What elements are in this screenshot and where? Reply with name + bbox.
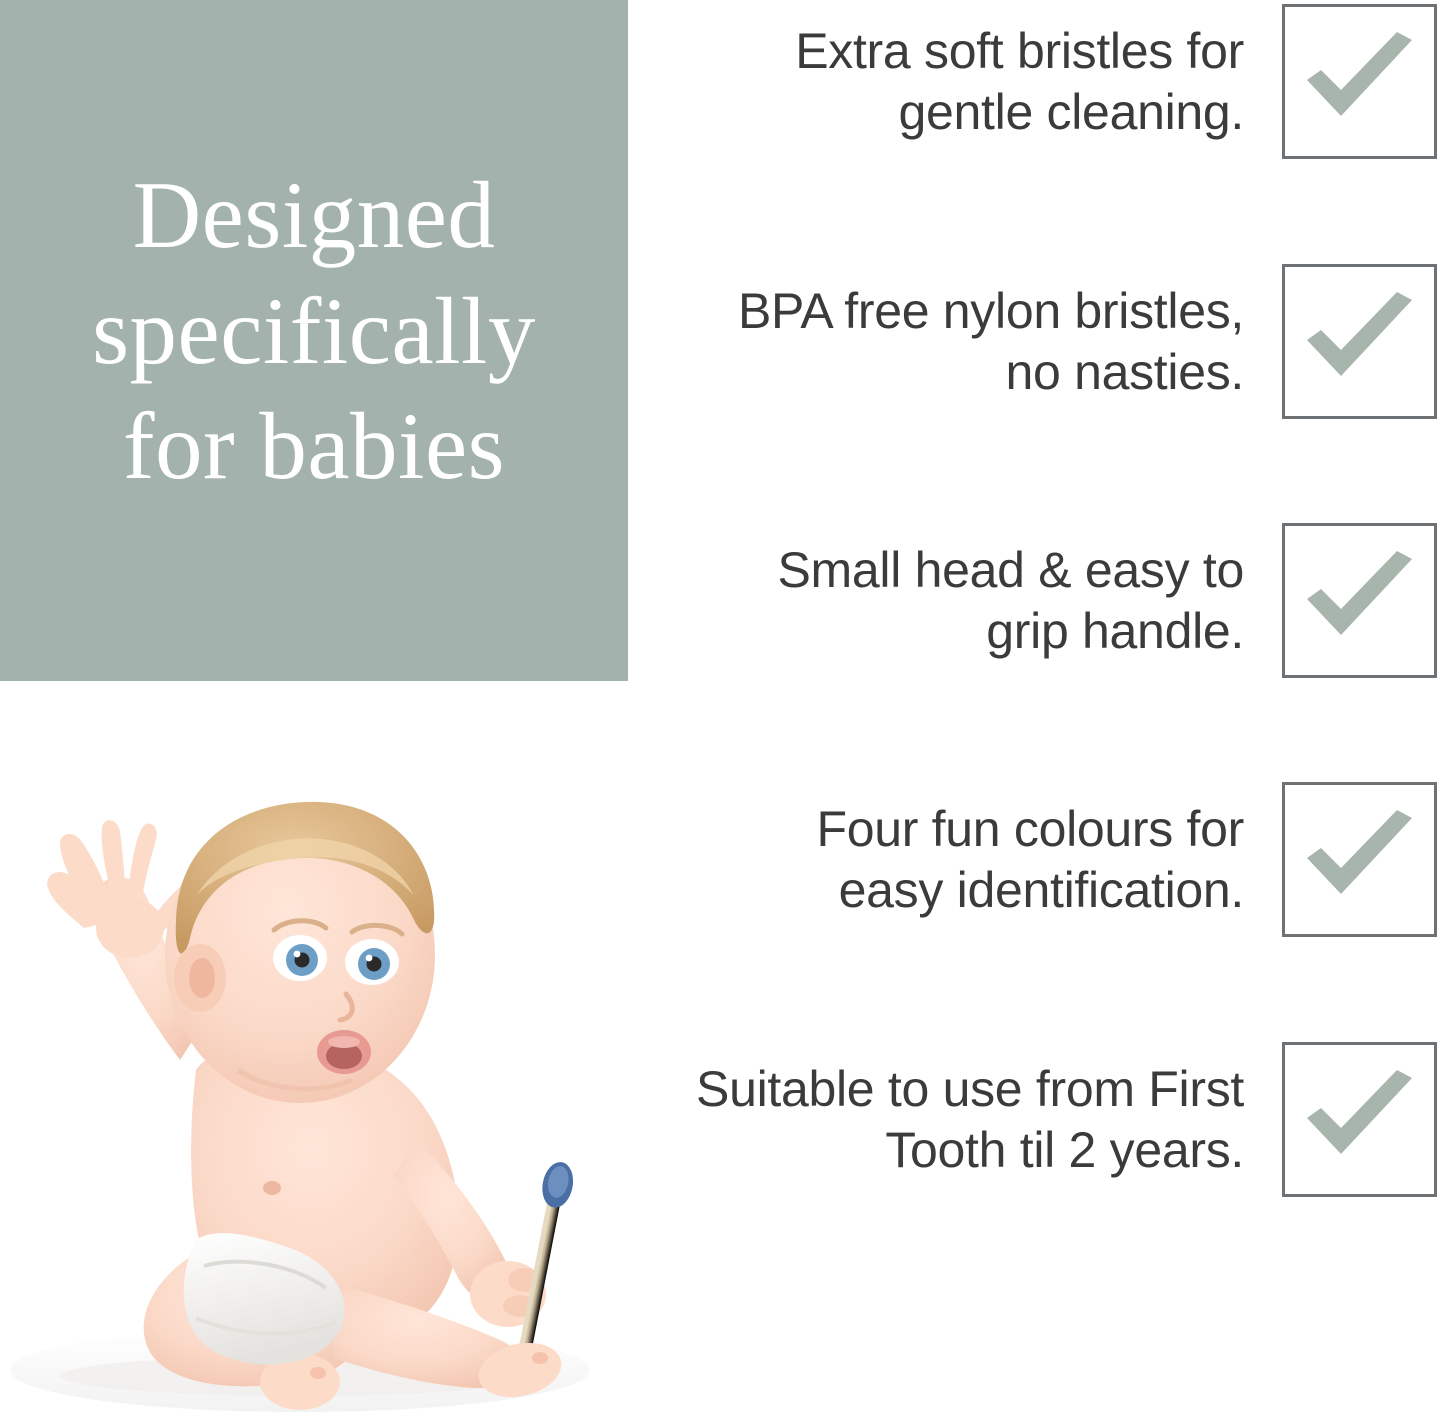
checkbox-2[interactable] — [1282, 264, 1437, 419]
left-column: Designed specifically for babies — [0, 0, 640, 1416]
checkbox-3[interactable] — [1282, 523, 1437, 678]
checkbox-4[interactable] — [1282, 782, 1437, 937]
feature-row: Four fun colours for easy identification… — [640, 782, 1445, 937]
feature-text: Suitable to use from First Tooth til 2 y… — [682, 1059, 1282, 1180]
check-icon — [1301, 551, 1419, 651]
checkbox-5[interactable] — [1282, 1042, 1437, 1197]
check-icon — [1301, 292, 1419, 392]
feature-text: Four fun colours for easy identification… — [682, 799, 1282, 920]
hero-title: Designed specifically for babies — [62, 158, 566, 524]
feature-row: Suitable to use from First Tooth til 2 y… — [640, 1042, 1445, 1197]
feature-text: Extra soft bristles for gentle cleaning. — [682, 21, 1282, 142]
feature-text: Small head & easy to grip handle. — [682, 540, 1282, 661]
check-icon — [1301, 810, 1419, 910]
feature-row: BPA free nylon bristles, no nasties. — [640, 264, 1445, 419]
checkbox-1[interactable] — [1282, 4, 1437, 159]
feature-list: Extra soft bristles for gentle cleaning.… — [640, 0, 1445, 1416]
feature-row: Small head & easy to grip handle. — [640, 523, 1445, 678]
feature-row: Extra soft bristles for gentle cleaning. — [640, 4, 1445, 159]
check-icon — [1301, 32, 1419, 132]
feature-text: BPA free nylon bristles, no nasties. — [682, 281, 1282, 402]
check-icon — [1301, 1070, 1419, 1170]
hero-panel: Designed specifically for babies — [0, 0, 628, 681]
baby-with-toothbrush-photo — [0, 770, 640, 1416]
